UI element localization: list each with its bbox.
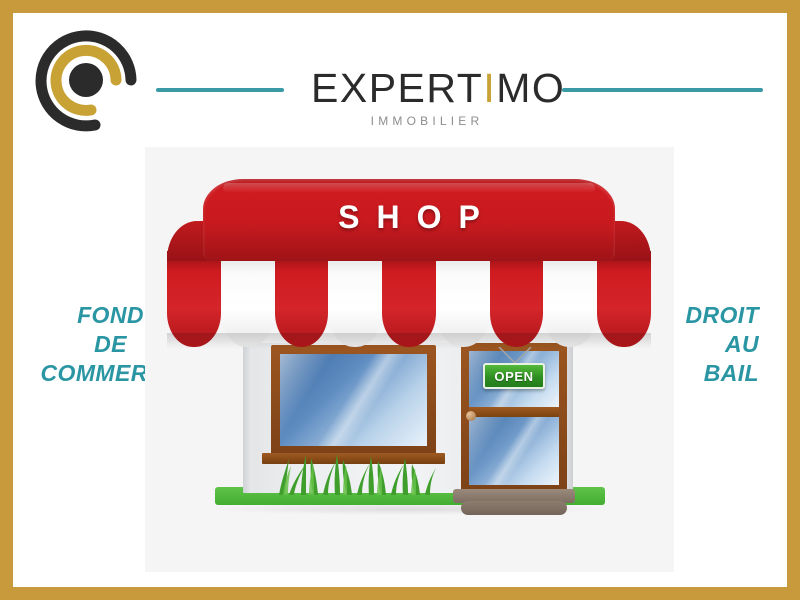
door-glass-lower xyxy=(469,417,559,485)
brand-title-part2: MO xyxy=(496,65,565,111)
poster-frame: EXPERTIMO IMMOBILIER FOND DE COMMERCE DR… xyxy=(0,0,800,600)
expertimo-spiral-logo-icon xyxy=(33,27,139,133)
shop-graphic: SHOP OPEN xyxy=(145,147,674,572)
awning-stripe xyxy=(382,251,436,347)
awning-stripe xyxy=(490,251,544,347)
awning-stripe xyxy=(436,251,490,347)
door-knob-icon[interactable] xyxy=(466,411,476,421)
brand-title-accent: I xyxy=(483,65,496,111)
divider-right xyxy=(562,88,763,92)
header: EXPERTIMO IMMOBILIER xyxy=(13,13,787,135)
shop-illustration-panel: SHOP OPEN xyxy=(145,147,674,572)
brand-title-part1: EXPERT xyxy=(311,65,483,111)
shop-wall-edge-left xyxy=(243,343,252,493)
door-rail xyxy=(469,407,559,417)
brand-title: EXPERTIMO xyxy=(311,65,543,111)
brand-block: EXPERTIMO IMMOBILIER xyxy=(311,65,543,128)
awning-stripe xyxy=(328,251,382,347)
awning-stripe xyxy=(275,251,329,347)
awning-stripe xyxy=(221,251,275,347)
brand-subtitle: IMMOBILIER xyxy=(311,114,543,128)
awning-stripe xyxy=(167,251,221,347)
awning-stripes xyxy=(167,251,651,347)
awning-stripe xyxy=(597,251,651,347)
open-sign[interactable]: OPEN xyxy=(483,363,545,389)
grass-tuft xyxy=(273,453,443,495)
shop-sign-text: SHOP xyxy=(203,199,615,236)
window-glass xyxy=(280,354,427,446)
shop-sign-highlight xyxy=(223,183,595,193)
awning-stripe xyxy=(543,251,597,347)
divider-left xyxy=(156,88,284,92)
shop-window xyxy=(271,345,436,455)
door-step-lower xyxy=(461,501,567,515)
open-sign-text: OPEN xyxy=(494,369,533,384)
